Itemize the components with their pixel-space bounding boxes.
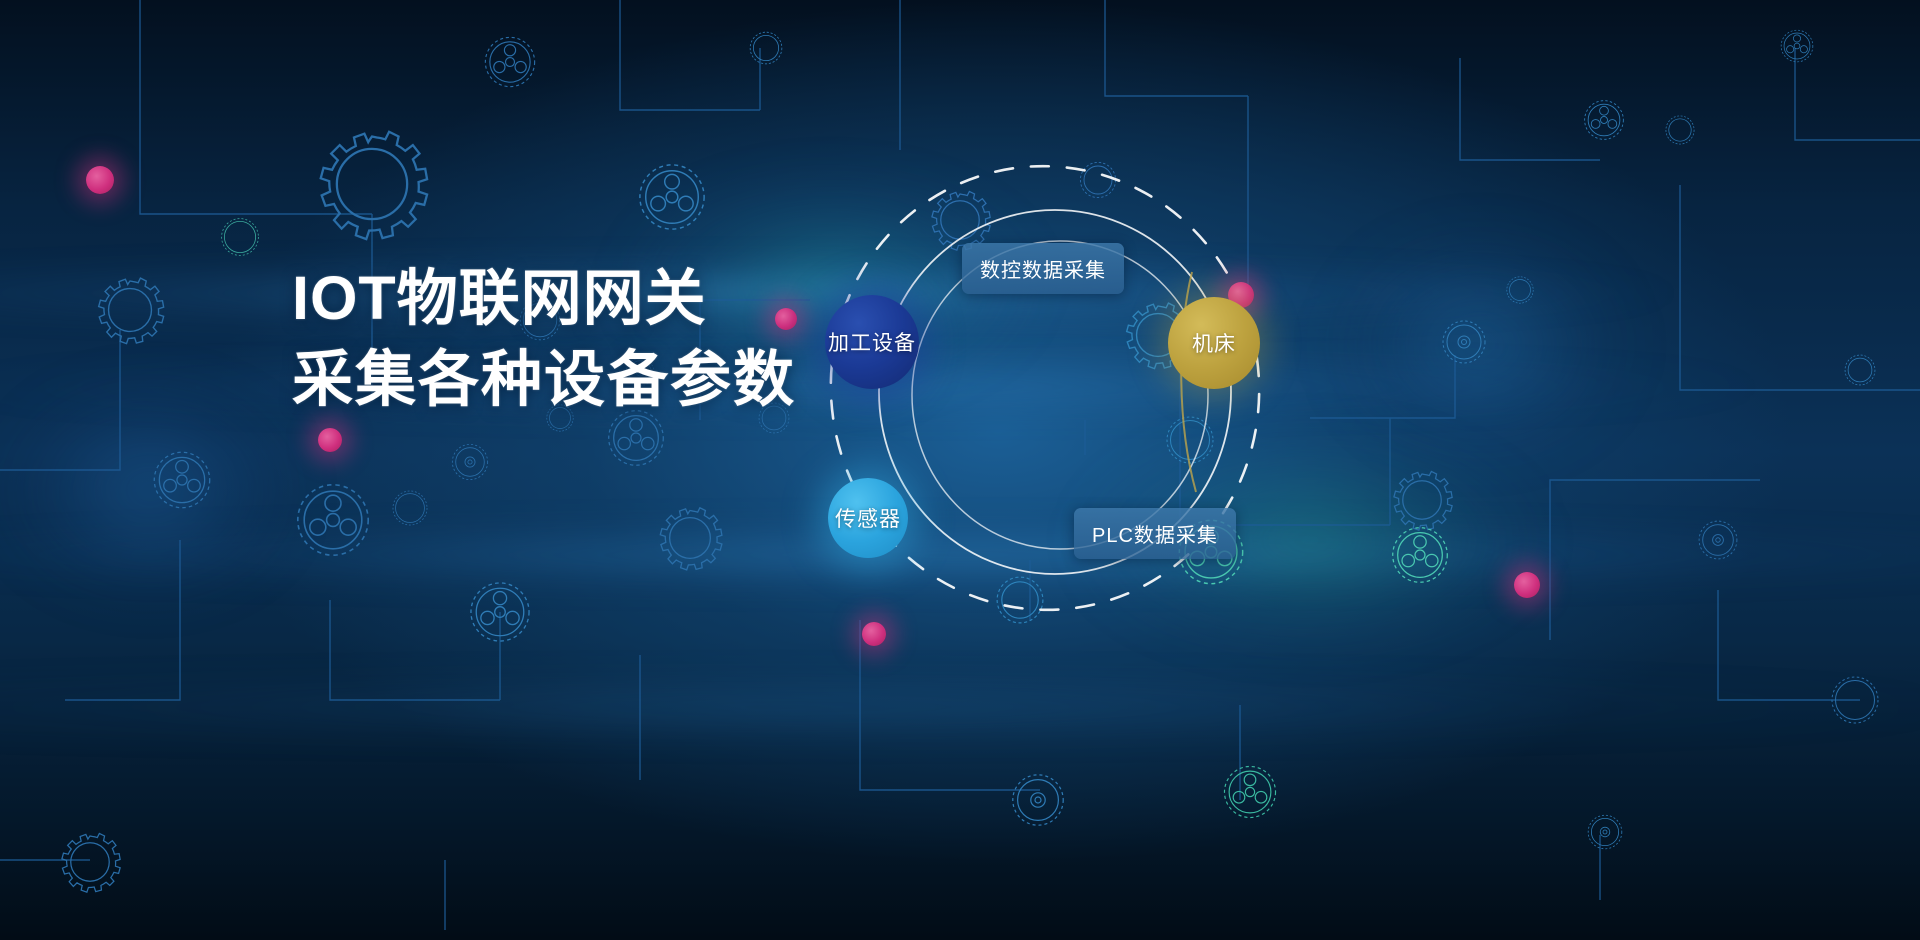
circuit-gear-artwork xyxy=(0,0,1920,940)
diagram-node-label: 加工设备 xyxy=(828,327,916,357)
diagram-node-sensor[interactable]: 传感器 xyxy=(828,478,908,558)
glow-dot-magenta-4 xyxy=(862,622,886,646)
banner-stage: IOT物联网网关 采集各种设备参数 加工设备 机床 传感器 数控数据采集 PLC… xyxy=(0,0,1920,940)
diagram-chip-label: PLC数据采集 xyxy=(1092,525,1218,547)
glow-dot-magenta-1 xyxy=(86,166,114,194)
diagram-node-machine-tool[interactable]: 机床 xyxy=(1168,297,1260,389)
glow-dot-magenta-6 xyxy=(1514,572,1540,598)
glow-dot-magenta-3 xyxy=(318,428,342,452)
diagram-chip-label: 数控数据采集 xyxy=(980,260,1106,282)
diagram-node-label: 传感器 xyxy=(835,503,901,533)
headline-line-2: 采集各种设备参数 xyxy=(292,339,796,420)
diagram-chip-cnc-data-collection[interactable]: 数控数据采集 xyxy=(962,243,1124,294)
page-title: IOT物联网网关 采集各种设备参数 xyxy=(292,258,796,420)
diagram-node-processing-equipment[interactable]: 加工设备 xyxy=(825,295,919,389)
headline-line-1: IOT物联网网关 xyxy=(292,258,796,339)
diagram-chip-plc-data-collection[interactable]: PLC数据采集 xyxy=(1074,508,1236,559)
diagram-node-label: 机床 xyxy=(1192,328,1236,358)
